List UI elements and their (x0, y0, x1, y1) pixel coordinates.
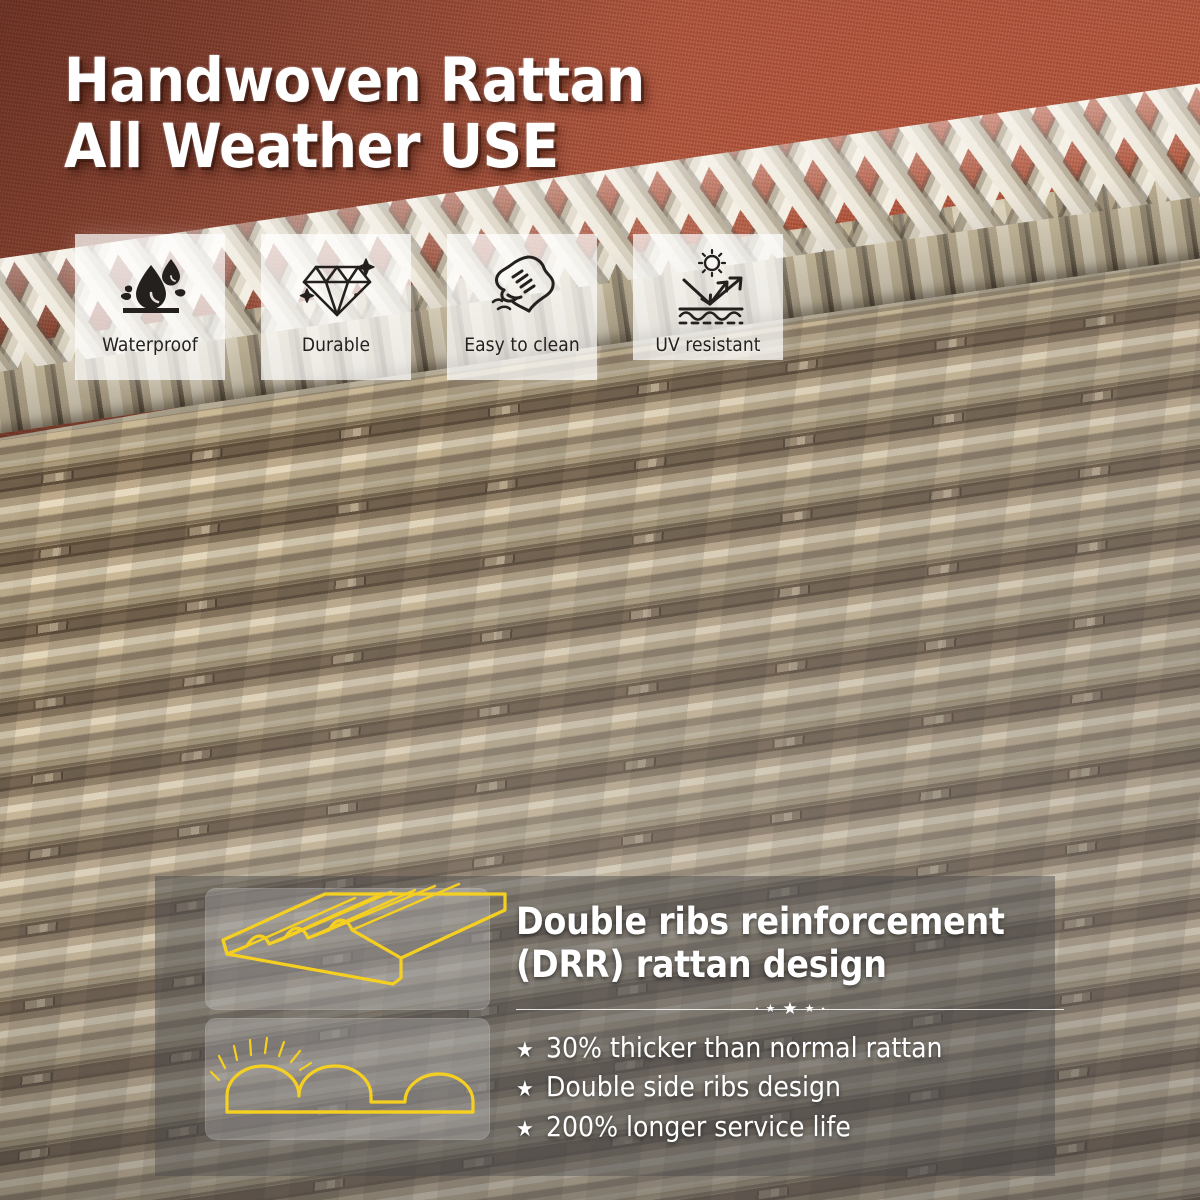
list-item: ★200% longer service life (516, 1107, 1076, 1147)
hand-wipe-icon (447, 248, 597, 326)
list-item: ★30% thicker than normal rattan (516, 1028, 1076, 1068)
rattan-strand-3d-diagram (205, 888, 490, 1010)
ornament-dot-left: • (755, 1002, 758, 1016)
uv-sun-shield-icon (633, 248, 783, 326)
diamond-sparkle-icon (261, 248, 411, 326)
ornament-dot-right: • (822, 1002, 825, 1016)
drr-feature-list: ★30% thicker than normal rattan ★Double … (516, 1028, 1076, 1147)
decorative-divider: • ★ ★ ★ • (516, 1002, 1064, 1016)
headline-line-2: All Weather USE (64, 114, 824, 180)
star-bullet-icon: ★ (516, 1074, 546, 1105)
badge-label: Easy to clean (447, 334, 597, 356)
drr-heading-line-1: Double ribs reinforcement (516, 900, 1076, 943)
ornament-star-small-left: ★ (766, 1002, 776, 1016)
drr-heading: Double ribs reinforcement (DRR) rattan d… (516, 900, 1076, 987)
badge-label: UV resistant (633, 334, 783, 356)
feature-badge-easy-to-clean: Easy to clean (447, 234, 597, 386)
headline-line-1: Handwoven Rattan (64, 45, 645, 116)
page-title: Handwoven Rattan All Weather USE (64, 48, 824, 180)
list-item-text: Double side ribs design (546, 1070, 841, 1103)
badge-label: Durable (261, 334, 411, 356)
feature-badge-row: Waterproof Durable (75, 234, 795, 386)
star-bullet-icon: ★ (516, 1114, 546, 1145)
list-item: ★Double side ribs design (516, 1067, 1076, 1107)
ornament-star-big: ★ (782, 1002, 797, 1016)
feature-badge-uv-resistant: UV resistant (633, 234, 783, 386)
badge-label: Waterproof (75, 334, 225, 356)
drr-text-block: Double ribs reinforcement (DRR) rattan d… (516, 900, 1076, 1147)
rattan-ribs-cross-section-diagram (205, 1018, 490, 1140)
feature-badge-durable: Durable (261, 234, 411, 386)
drr-heading-line-2: (DRR) rattan design (516, 943, 1076, 986)
list-item-text: 200% longer service life (546, 1110, 851, 1143)
feature-badge-waterproof: Waterproof (75, 234, 225, 386)
star-bullet-icon: ★ (516, 1035, 546, 1066)
divider-ornament: • ★ ★ ★ • (746, 1002, 833, 1016)
list-item-text: 30% thicker than normal rattan (546, 1031, 943, 1064)
ornament-star-small-right: ★ (805, 1002, 815, 1016)
product-feature-image: Handwoven Rattan All Weather USE Waterpr… (0, 0, 1200, 1200)
water-drop-icon (75, 248, 225, 326)
